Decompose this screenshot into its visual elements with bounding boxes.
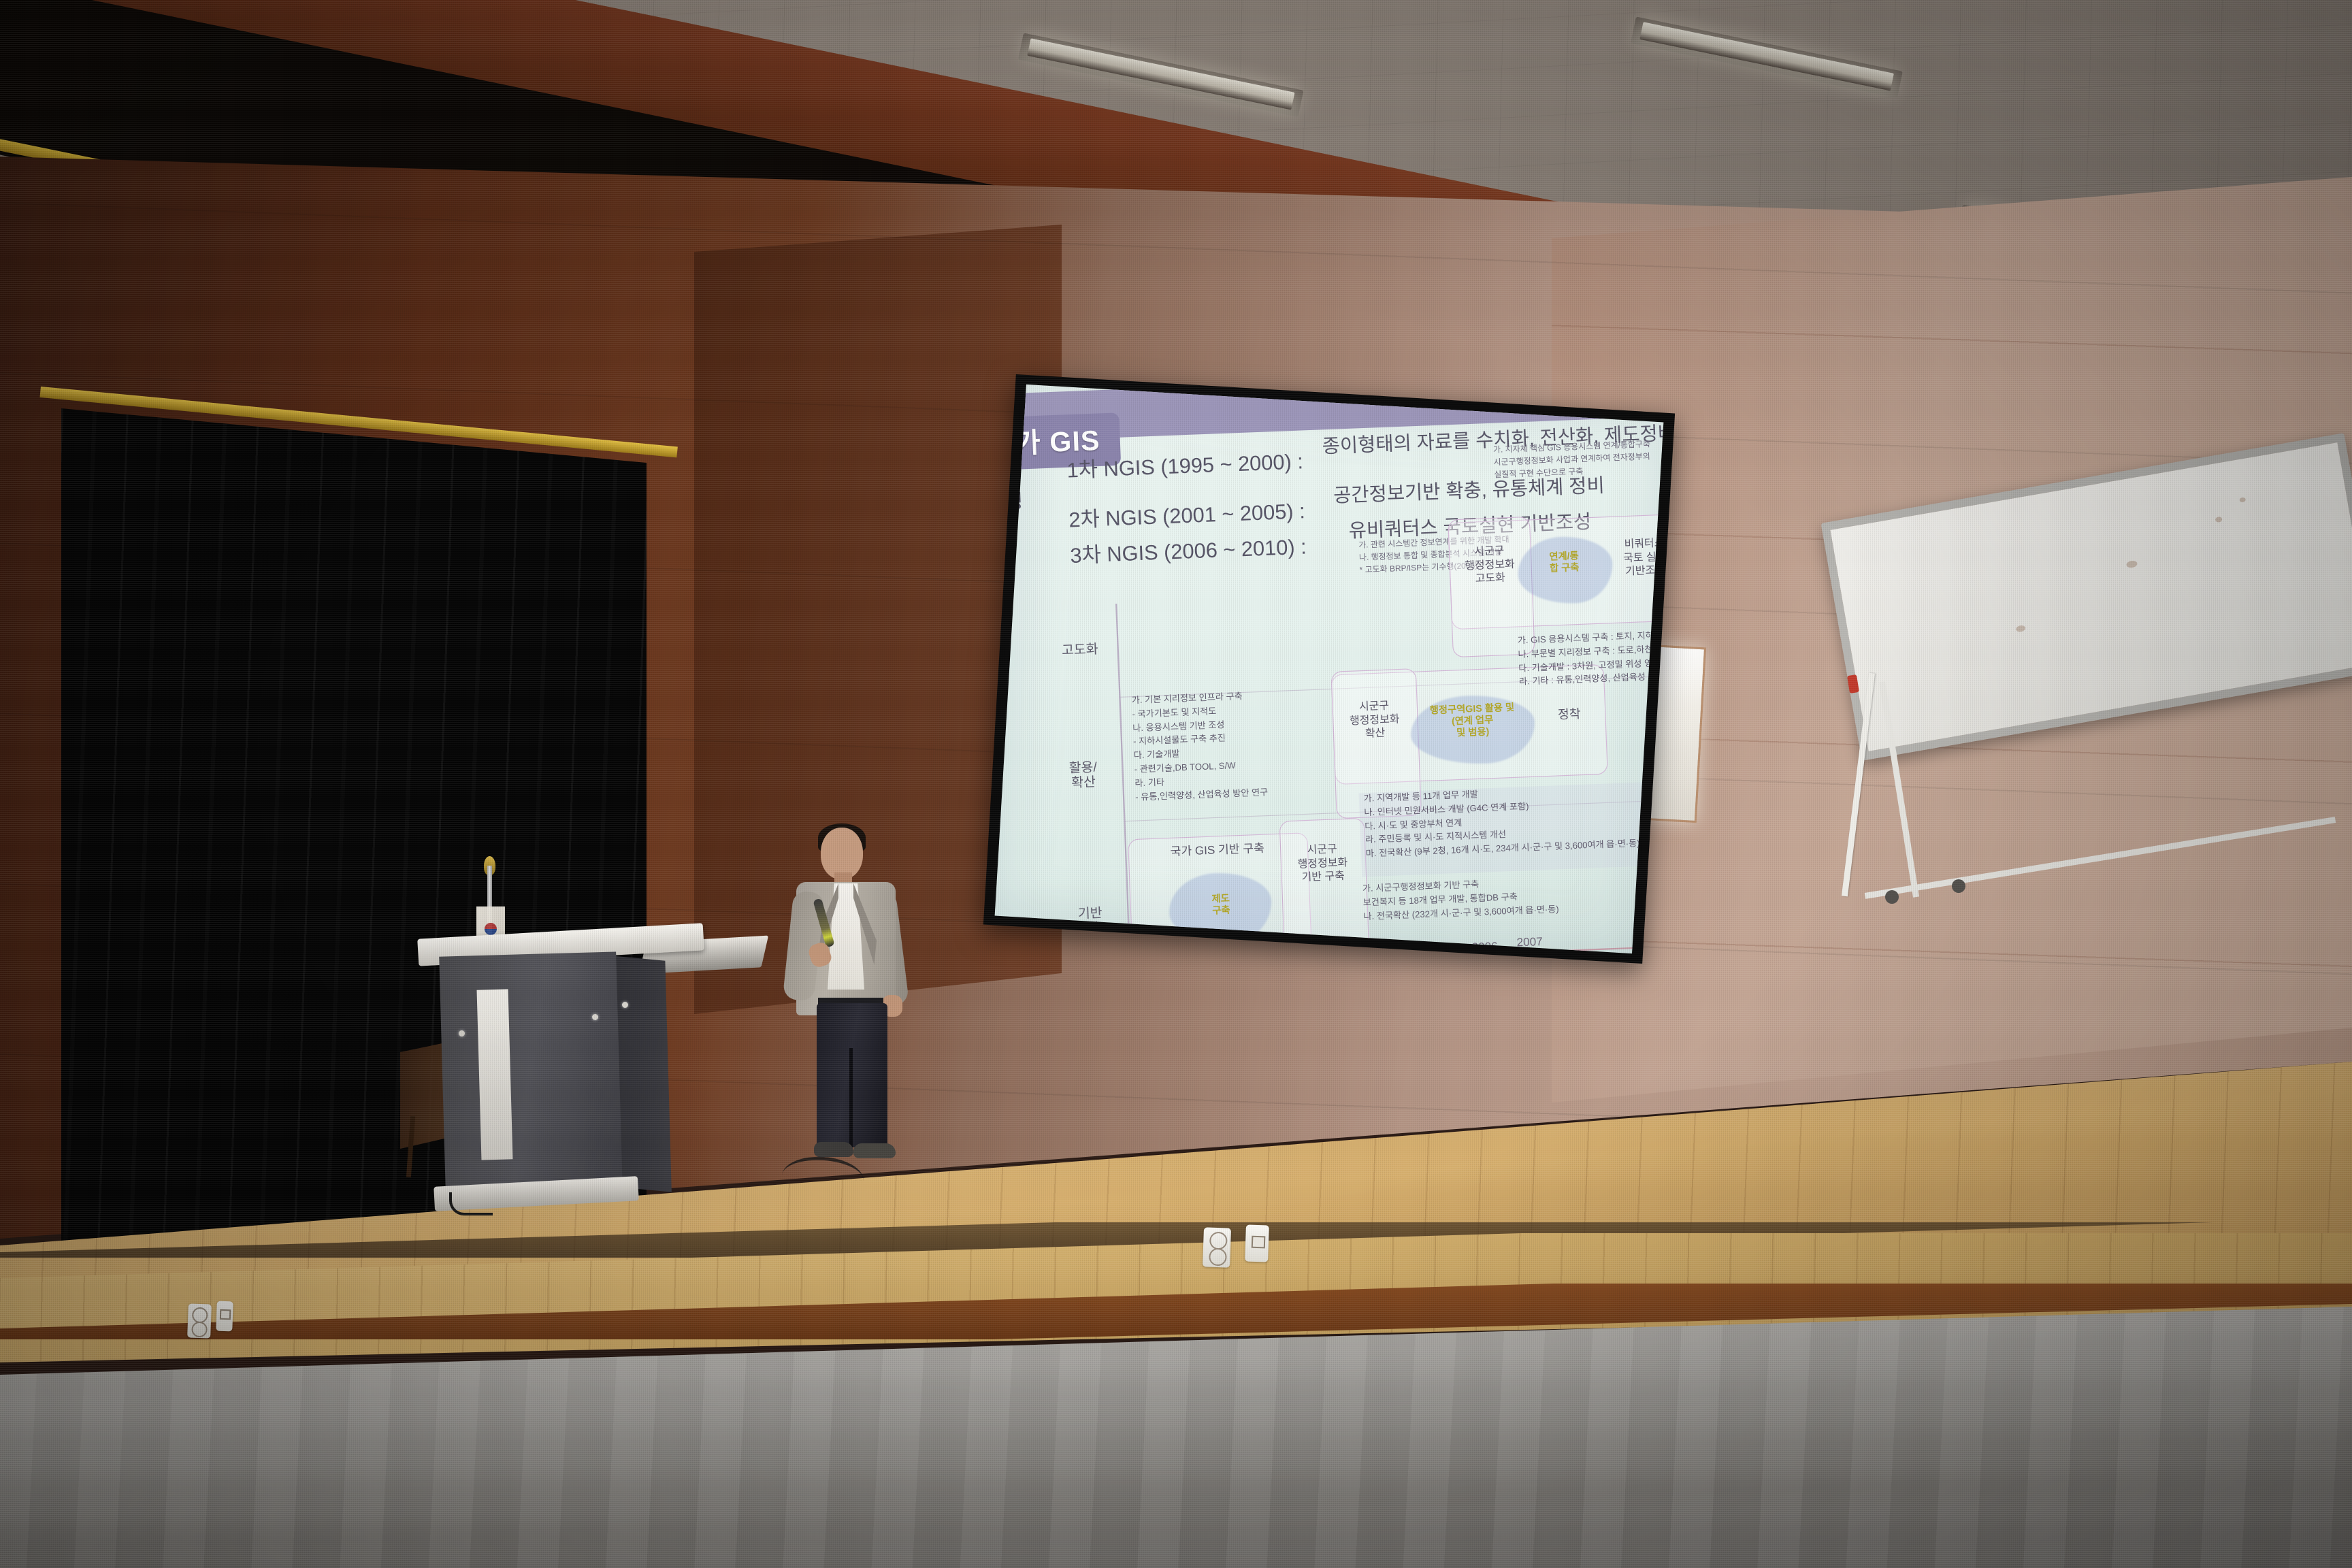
ngis-phase-3-notes: 가. 지자체 핵심 GIS 응용시스템 연계/통합구축 시군구행정정보화 사업과… (1493, 439, 1652, 482)
lectern (418, 931, 745, 1224)
lectern-front-panel (439, 951, 623, 1193)
whiteboard-frame-mid-bar (1865, 817, 2336, 899)
bullets-low: 가. 시군구행정정보화 기반 구축 보건복지 등 18개 업무 개발, 통합DB… (1362, 869, 1664, 924)
diagram-box-sigungu-advanced-label: 시군구 행정정보화 고도화 (1450, 543, 1529, 587)
diagram-blob-expand-label: 행정구역GIS 활용 및 (연계 업무 및 범용) (1411, 701, 1534, 740)
auditorium-scene: 국가 GIS 1차 NGIS (1995 ~ 2000) : 종이형태의 자료를… (0, 0, 2352, 1568)
diagram-box-settle-label: 정착 (1545, 706, 1594, 723)
projected-slide: 국가 GIS 1차 NGIS (1995 ~ 2000) : 종이형태의 자료를… (995, 385, 1664, 953)
presenter-shoe-left (814, 1142, 853, 1157)
x-axis-label-6: 2007 (1516, 935, 1543, 949)
chart-y-axis (1115, 604, 1131, 953)
diagram-box-sigungu-base-label: 시군구 행정정보화 기반 구축 (1283, 841, 1362, 885)
lectern-accent-stripe (477, 989, 513, 1160)
y-axis-label-0: 고도화 (1051, 641, 1108, 658)
presenter (783, 823, 919, 1164)
whiteboard-assembly (1837, 476, 2352, 1034)
ngis-phase-2-label: 2차 NGIS (2001 ~ 2005) : (1068, 494, 1305, 534)
whiteboard-caster-right (1952, 879, 1965, 893)
connector-plate[interactable] (1245, 1224, 1269, 1262)
diagram-blob-base-label: 제도 구축 (1194, 892, 1249, 917)
lectern-knob-2 (592, 1014, 598, 1020)
power-outlet-left[interactable] (187, 1303, 212, 1338)
y-axis-label-1: 활용/ 확산 (1053, 759, 1113, 791)
ngis-phase-3-label: 3차 NGIS (2006 ~ 2010) : (1070, 529, 1307, 569)
diagram-box-sigungu-base (1279, 818, 1370, 953)
lectern-knob-1 (459, 1030, 465, 1036)
whiteboard (1821, 433, 2352, 761)
power-outlet-duplex[interactable] (1203, 1227, 1231, 1267)
diagram-blob-advanced-label: 연계/통 합 구축 (1524, 549, 1605, 576)
presenter-head (821, 828, 863, 879)
bullets-mid: 가. 지역개발 등 11개 업무 개발 나. 인터넷 민원서비스 개발 (G4C… (1363, 779, 1663, 862)
bullets-left: 가. 기본 지리정보 인프라 구축 - 국가기본도 및 지적도 나. 응용시스템… (1131, 686, 1368, 805)
x-axis-label-5: 2006 (1471, 940, 1498, 953)
presenter-leg-split (849, 1048, 853, 1147)
presenter-shoe-right (853, 1143, 896, 1158)
diagram-box-ubiq-label: 비쿼터스 국토 실현 기반조성 (1613, 536, 1663, 578)
projection-screen: 국가 GIS 1차 NGIS (1995 ~ 2000) : 종이형태의 자료를… (983, 374, 1675, 964)
lectern-cable (449, 1192, 493, 1215)
bullets-right: 가. GIS 응용시스템 구축 : 토지, 지하, 수자원,재난,환경 나. 부… (1517, 626, 1663, 690)
connector-plate-left[interactable] (216, 1301, 233, 1332)
lectern-knob-3 (622, 1002, 628, 1008)
whiteboard-caster-left (1885, 890, 1899, 904)
